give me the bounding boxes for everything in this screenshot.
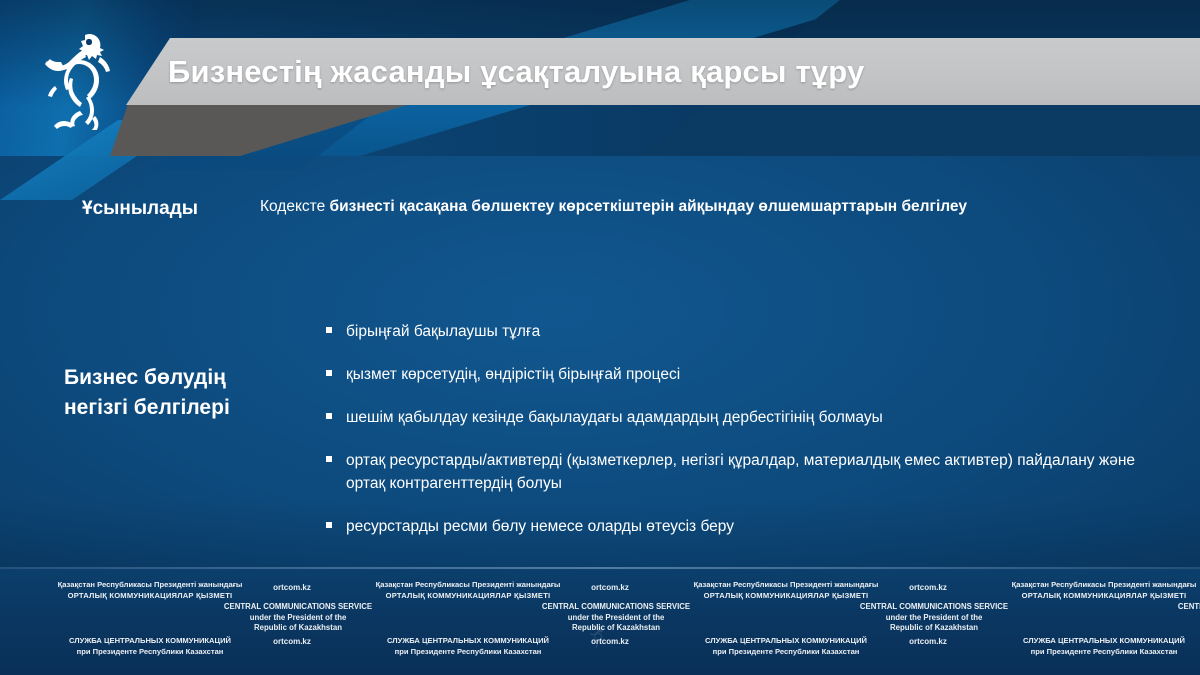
presentation-slide: Бизнестің жасанды ұсақталуына қарсы тұру… [0, 0, 1200, 675]
list-item: қызмет көрсетудің, өндірістің бірыңғай п… [326, 363, 1166, 386]
footer-leopard-watermark-icon [586, 625, 608, 651]
list-item: ресурстарды ресми бөлу немесе оларды өте… [326, 515, 1166, 538]
footer-url: ortcom.kz [1176, 637, 1200, 646]
footer-url: ortcom.kz [1176, 583, 1200, 592]
signs-label-line1: Бизнес бөлудің [64, 363, 324, 393]
list-item-label: бірыңғай бақылаушы тұлға [346, 320, 540, 343]
footer-org-en: CENTRAL COMMUNICATIONS SERVICEunder the … [1132, 602, 1200, 634]
recommendation-text: Кодексте бизнесті қасақана бөлшектеу көр… [260, 196, 1090, 218]
footer-org-ru-line2: при Президенте Республики Казахстан [954, 646, 1200, 657]
footer-org-ru-line1: СЛУЖБА ЦЕНТРАЛЬНЫХ КОММУНИКАЦИЙ [954, 635, 1200, 646]
list-item-label: ресурстарды ресми бөлу немесе оларды өте… [346, 515, 734, 538]
title-ribbon: Бизнестің жасанды ұсақталуына қарсы тұру [126, 38, 1200, 105]
footer-watermark-group: Қазақстан Республикасы Президенті жанынд… [636, 569, 936, 675]
square-bullet-icon [326, 449, 346, 462]
recommendation-label: Ұсынылады [0, 196, 260, 222]
square-bullet-icon [326, 406, 346, 419]
footer-org-kk-line2: ОРТАЛЫҚ КОММУНИКАЦИЯЛАР ҚЫЗМЕТІ [954, 590, 1200, 601]
footer-org-ru: СЛУЖБА ЦЕНТРАЛЬНЫХ КОММУНИКАЦИЙпри Прези… [954, 635, 1200, 657]
list-item-label: ортақ ресурстарды/активтерді (қызметкерл… [346, 449, 1166, 495]
signs-bullet-list: бірыңғай бақылаушы тұлға қызмет көрсетуд… [326, 320, 1166, 558]
footer-watermark-group: Қазақстан Республикасы Президенті жанынд… [954, 569, 1200, 675]
recommendation-text-lead: Кодексте [260, 198, 330, 215]
footer-org-ru-line2: при Президенте Республики Казахстан [318, 646, 618, 657]
footer-watermark-group: Қазақстан Республикасы Президенті жанынд… [318, 569, 618, 675]
footer-org-ru-line2: при Президенте Республики Казахстан [636, 646, 936, 657]
snow-leopard-emblem-icon [28, 26, 124, 130]
square-bullet-icon [326, 363, 346, 376]
list-item: бірыңғай бақылаушы тұлға [326, 320, 1166, 343]
signs-label-line2: негізгі белгілері [64, 393, 324, 423]
recommendation-row: Ұсынылады Кодексте бизнесті қасақана бөл… [0, 196, 1200, 222]
square-bullet-icon [326, 320, 346, 333]
footer-watermark-band: Қазақстан Республикасы Президенті жанынд… [0, 569, 1200, 675]
page-title: Бизнестің жасанды ұсақталуына қарсы тұру [168, 54, 864, 90]
footer-org-ru-line2: при Президенте Республики Казахстан [0, 646, 300, 657]
footer-org-kk: Қазақстан Республикасы Президенті жанынд… [954, 579, 1200, 601]
list-item-label: қызмет көрсетудің, өндірістің бірыңғай п… [346, 363, 680, 386]
square-bullet-icon [326, 515, 346, 528]
footer-org-en-line2: under the President of the [1132, 613, 1200, 624]
footer-org-en-line1: CENTRAL COMMUNICATIONS SERVICE [1132, 602, 1200, 613]
signs-label: Бизнес бөлудің негізгі белгілері [64, 363, 324, 423]
footer-org-kk-line1: Қазақстан Республикасы Президенті жанынд… [954, 579, 1200, 590]
list-item: ортақ ресурстарды/активтерді (қызметкерл… [326, 449, 1166, 495]
recommendation-text-bold: бизнесті қасақана бөлшектеу көрсеткіштер… [330, 198, 967, 215]
list-item-label: шешім қабылдау кезінде бақылаудағы адамд… [346, 406, 883, 429]
list-item: шешім қабылдау кезінде бақылаудағы адамд… [326, 406, 1166, 429]
footer-org-en-line3: Republic of Kazakhstan [1132, 623, 1200, 634]
footer-watermark-group: Қазақстан Республикасы Президенті жанынд… [0, 569, 300, 675]
